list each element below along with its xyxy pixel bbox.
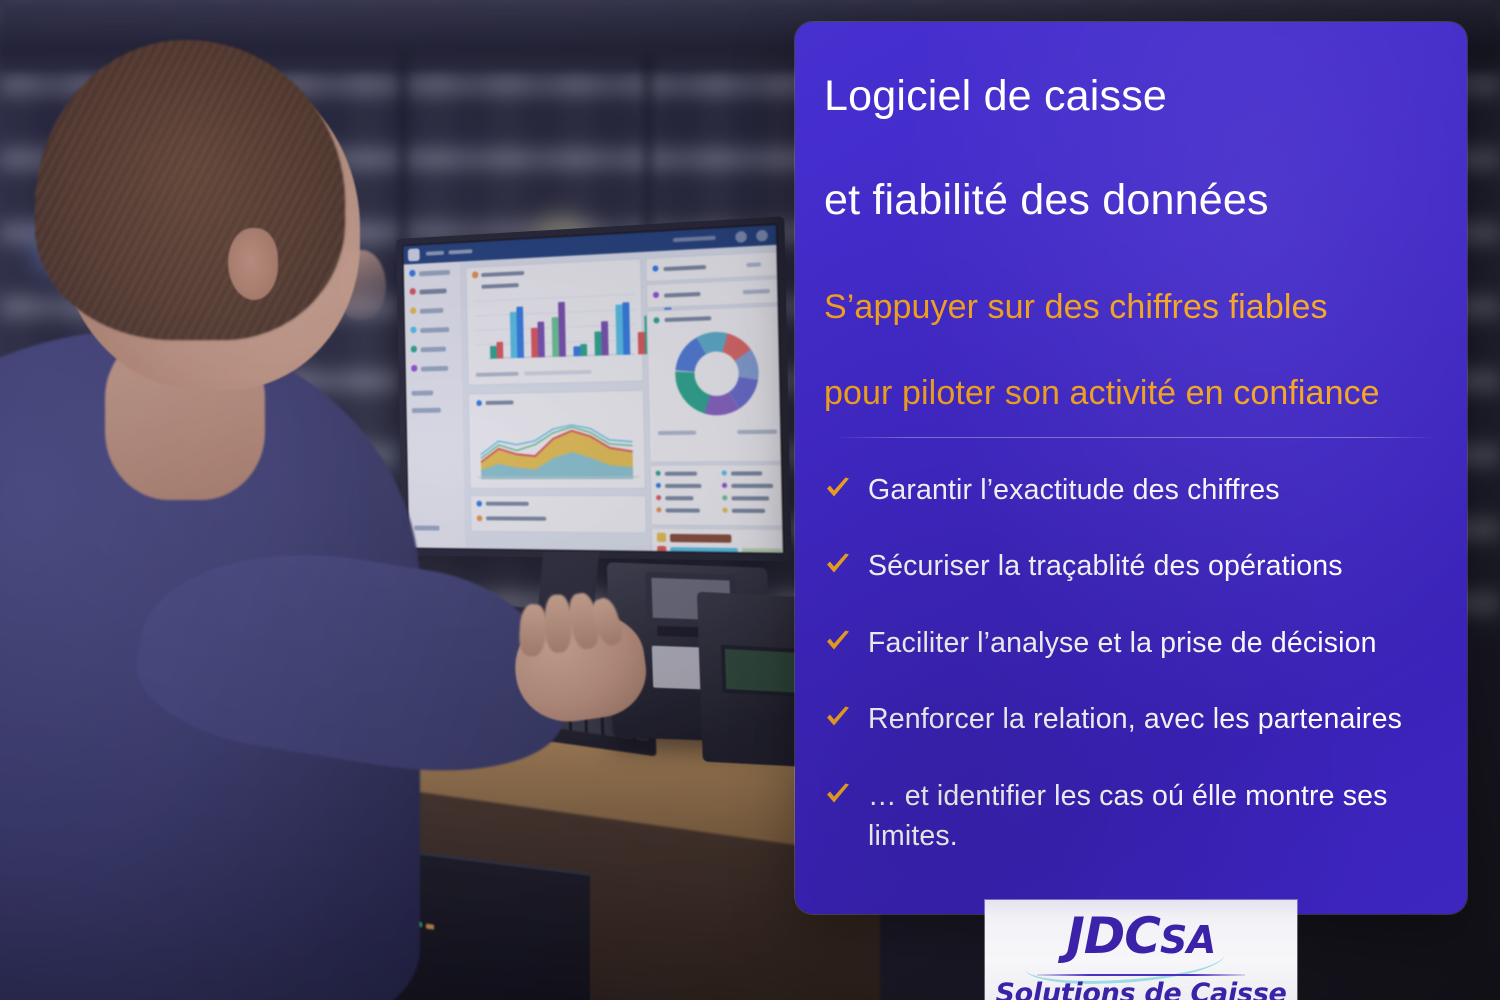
section-divider: [834, 437, 1435, 438]
logo-wordmark-primary: JDC: [1066, 907, 1160, 965]
list-item: Sécuriser la traçablité des opérations: [824, 546, 1441, 586]
logo-wordmark: JDCSA: [985, 911, 1297, 961]
list-item-label: Garantir l’exactitude des chiffres: [868, 470, 1280, 510]
help-icon: [735, 231, 747, 243]
benefit-list: Garantir l’exactitude des chiffres Sécur…: [824, 470, 1441, 893]
page-subtitle-line2: pour piloter son activité en confiance: [824, 376, 1380, 410]
list-item-label: … et identifier les cas oú élle montre s…: [868, 776, 1428, 857]
progress-card: [651, 528, 783, 553]
poster-canvas: Logiciel de caisse et fiabilité des donn…: [0, 0, 1500, 1000]
check-icon: [824, 627, 852, 657]
legend-list-card: [649, 464, 782, 527]
list-item: Faciliter l’analyse et la prise de décis…: [824, 623, 1441, 663]
kpi-card-1: [645, 251, 783, 282]
logo-underline: [1037, 974, 1245, 976]
content-panel: Logiciel de caisse et fiabilité des donn…: [795, 22, 1467, 914]
account-icon: [756, 230, 768, 242]
company-logo: JDCSA Solutions de Caisse: [985, 900, 1297, 1000]
page-title-line2: et fiabilité des données: [824, 179, 1269, 222]
donut-chart: [672, 328, 762, 419]
list-item-label: Renforcer la relation, avec les partenai…: [868, 699, 1402, 739]
list-item: … et identifier les cas oú élle montre s…: [824, 776, 1441, 857]
list-item-label: Sécuriser la traçablité des opérations: [868, 546, 1343, 586]
logo-wordmark-secondary: SA: [1160, 918, 1216, 962]
person-at-counter: [0, 0, 560, 1000]
kpi-card-2: [646, 278, 783, 309]
check-icon: [824, 474, 852, 504]
check-icon: [824, 703, 852, 733]
person-ear: [228, 228, 278, 300]
person-hair: [35, 40, 345, 340]
page-title-line1: Logiciel de caisse: [824, 75, 1167, 118]
logo-tagline: Solutions de Caisse: [985, 980, 1297, 1000]
donut-chart-card: [646, 305, 783, 463]
list-item-label: Faciliter l’analyse et la prise de décis…: [868, 623, 1377, 663]
check-icon: [824, 550, 852, 580]
list-item: Renforcer la relation, avec les partenai…: [824, 699, 1441, 739]
page-subtitle-line1: S’appuyer sur des chiffres fiables: [824, 290, 1328, 324]
list-item: Garantir l’exactitude des chiffres: [824, 470, 1441, 510]
check-icon: [824, 780, 852, 810]
person-face-profile: [340, 250, 386, 320]
